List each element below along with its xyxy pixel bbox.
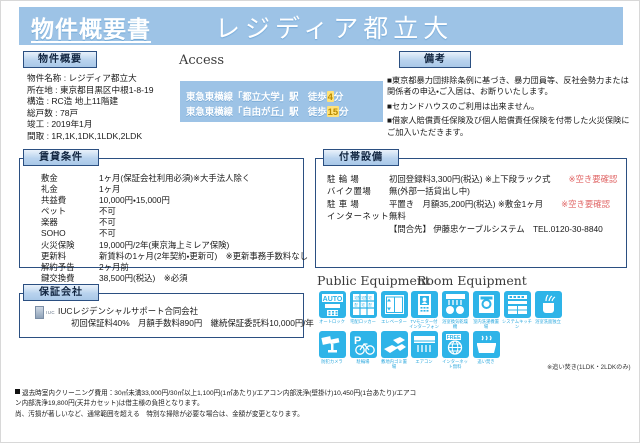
equipment-label: 浴室洗面独立: [533, 319, 563, 324]
bathroom-dryer-icon: [442, 291, 469, 318]
guarantee-company-name: IUCレジデンシャルサポート合同会社: [58, 305, 198, 317]
facility-key: バイク置場: [327, 185, 389, 197]
access-route-2-unit: 分: [339, 106, 348, 117]
equipment-item-air-conditioner: エアコン: [409, 331, 439, 364]
equipment-label: システムキッチン: [502, 319, 532, 329]
footnote-line-2: 尚、汚損が著しいなど、通常範囲を超える 特別な掃除が必要な場合は、金額が変更とな…: [15, 410, 419, 420]
table-row: 鍵交換費 38,500円(税込) ※必須: [41, 273, 308, 284]
equipment-label: 浴室換気乾燥機: [440, 319, 470, 329]
section-tab-rent-conditions: 賃貸条件: [23, 149, 99, 166]
footnote-block: 退去時室内クリーニング費用：30㎡未満33,000円/30㎡以上1,100円(1…: [15, 389, 419, 420]
table-row: SOHO 不可: [41, 228, 308, 239]
access-route-1: 東急東横線「都立大学」駅 徒歩4分: [186, 89, 343, 103]
equipment-item-free-internet: FREE インターネット無料: [440, 331, 470, 369]
vacancy-warning: ※空き要確認: [569, 174, 618, 184]
rent-key: 更新料: [41, 251, 99, 262]
rent-key: 楽器: [41, 217, 99, 228]
property-summary-document: 物件概要書 レジディア都立大 物件概要 物件名称 : レジディア都立大 所在地 …: [0, 0, 640, 443]
equipment-item-security-camera: 防犯カメラ: [317, 331, 347, 364]
rent-key: 礼金: [41, 184, 99, 195]
remarks-item: ■借家人賠償責任保険及び個人賠償責任保険を付帯した火災保険にご加入いただきます。: [387, 115, 633, 138]
document-title: 物件概要書: [31, 10, 151, 44]
washer-space-icon: [473, 291, 500, 318]
facility-key: インターネット: [327, 210, 389, 222]
equipment-label: 室内洗濯機置場: [471, 319, 501, 329]
rent-key: 解約予告: [41, 262, 99, 273]
svg-text:FREE: FREE: [446, 335, 460, 341]
rent-key: 火災保険: [41, 240, 99, 251]
overview-row: 所在地 : 東京都目黒区中根1-8-19: [27, 85, 154, 97]
public-equipment-heading: Public Equipment: [317, 273, 430, 288]
equipment-label: 宅配ロッカー: [348, 319, 378, 324]
equipment-label: オートロック: [317, 319, 347, 324]
facility-value: 無(外部一括貸出し中): [389, 185, 617, 197]
rent-key: 敷金: [41, 173, 99, 184]
access-route-1-text: 東急東横線「都立大学」駅 徒歩: [186, 91, 327, 102]
overview-row: 竣工 : 2019年1月: [27, 119, 154, 131]
elevator-icon: [381, 291, 408, 318]
equipment-item-intercom: TVモニター付インターフォン: [409, 291, 439, 329]
facility-key: 駐 輪 場: [327, 173, 389, 185]
rent-key: 共益費: [41, 195, 99, 206]
property-name-title: レジディア都立大: [215, 9, 453, 45]
table-row: 共益費 10,000円・15,000円: [41, 195, 308, 206]
reheating-note: ※追い焚き(1LDK・2LDKのみ): [547, 362, 631, 371]
facility-value-text: 初回登録料3,300円(税込) ※上下段ラック式: [389, 174, 551, 184]
remarks-list: ■東京都暴力団排除条例に基づき、暴力団員等、反社会勢力または関係者の申込・ご入居…: [387, 75, 633, 141]
table-row: バイク置場 無(外部一括貸出し中): [327, 185, 617, 197]
guarantee-logo-text: IUC: [46, 310, 55, 315]
rent-value: 不可: [99, 228, 308, 239]
facility-value: 初回登録料3,300円(税込) ※上下段ラック式※空き要確認: [389, 173, 617, 185]
equipment-item-delivery-locker: 宅配宅配宅 配宅配 宅配ロッカー: [348, 291, 378, 324]
overview-row: 総戸数 : 78戸: [27, 108, 154, 120]
overview-row: 物件名称 : レジディア都立大: [27, 73, 154, 85]
facilities-table: 駐 輪 場 初回登録料3,300円(税込) ※上下段ラック式※空き要確認 バイク…: [327, 173, 617, 223]
auto-lock-icon: AUTO: [319, 291, 346, 318]
facility-value: 平置き 月額35,200円(税込) ※敷金1ヶ月※空き要確認: [389, 198, 617, 210]
equipment-item-system-kitchen: システムキッチン: [502, 291, 532, 329]
bullet-square-icon: [15, 389, 20, 394]
equipment-label: 駐輪場: [348, 359, 378, 364]
table-row: 礼金 1ヶ月: [41, 184, 308, 195]
facility-value-text: 平置き 月額35,200円(税込) ※敷金1ヶ月: [389, 199, 543, 209]
rent-value: 1ヶ月(保証会社利用必須)※大手法人除く: [99, 173, 308, 184]
system-kitchen-icon: [504, 291, 531, 318]
overview-row: 間取 : 1R,1K,1DK,1LDK,2LDK: [27, 131, 154, 143]
building-logo-icon: [35, 306, 44, 319]
rent-value: 不可: [99, 206, 308, 217]
table-row: 更新料 新賃料の1ヶ月(2年契約・更新可) ※更新事務手数料なし: [41, 251, 308, 262]
facility-key: 駐 車 場: [327, 198, 389, 210]
security-camera-icon: [319, 331, 346, 358]
section-tab-remarks: 備考: [399, 51, 471, 68]
separate-bath-toilet-icon: [535, 291, 562, 318]
access-route-1-unit: 分: [334, 91, 343, 102]
vacancy-warning: ※空き要確認: [561, 199, 610, 209]
delivery-locker-icon: 宅配宅配宅 配宅配: [350, 291, 377, 318]
rent-value: 1ヶ月: [99, 184, 308, 195]
access-box: 東急東横線「都立大学」駅 徒歩4分 東急東横線「自由が丘」駅 徒歩15分: [180, 81, 383, 122]
access-route-2-minutes: 15: [327, 106, 339, 117]
equipment-label: 追い焚き: [471, 359, 501, 364]
section-tab-overview: 物件概要: [23, 51, 97, 68]
rent-conditions-table: 敷金 1ヶ月(保証会社利用必須)※大手法人除く 礼金 1ヶ月 共益費 10,00…: [41, 173, 308, 284]
rent-value: 19,000円/2年(東京海上ミレア保険): [99, 240, 308, 251]
equipment-label: 敷地内ゴミ置場: [379, 359, 409, 369]
equipment-label: エアコン: [409, 359, 439, 364]
svg-text:宅: 宅: [361, 303, 364, 307]
equipment-item-auto-lock: AUTO オートロック: [317, 291, 347, 324]
facilities-contact: 【問合先】 伊藤忠ケーブルシステム TEL.0120-30-8840: [389, 223, 603, 235]
table-row: 駐 輪 場 初回登録料3,300円(税込) ※上下段ラック式※空き要確認: [327, 173, 617, 185]
equipment-item-elevator: エレベーター: [379, 291, 409, 324]
equipment-item-separate-bath-toilet: 浴室洗面独立: [533, 291, 563, 324]
equipment-label: エレベーター: [379, 319, 409, 324]
rent-value: 2ヶ月前: [99, 262, 308, 273]
access-route-1-minutes: 4: [327, 91, 334, 102]
table-row: 楽器 不可: [41, 217, 308, 228]
overview-list: 物件名称 : レジディア都立大 所在地 : 東京都目黒区中根1-8-19 構造 …: [27, 73, 154, 143]
table-row: 敷金 1ヶ月(保証会社利用必須)※大手法人除く: [41, 173, 308, 184]
footnote-line-1: 退去時室内クリーニング費用：30㎡未満33,000円/30㎡以上1,100円(1…: [15, 389, 419, 410]
section-tab-facilities: 付帯設備: [323, 149, 399, 166]
svg-text:宅: 宅: [368, 296, 371, 300]
reheating-bath-icon: [473, 331, 500, 358]
remarks-item: ■東京都暴力団排除条例に基づき、暴力団員等、反社会勢力または関係者の申込・ご入居…: [387, 75, 633, 98]
equipment-label: インターネット無料: [440, 359, 470, 369]
table-row: 火災保険 19,000円/2年(東京海上ミレア保険): [41, 240, 308, 251]
rent-key: 鍵交換費: [41, 273, 99, 284]
intercom-icon: [411, 291, 438, 318]
rent-value: 10,000円・15,000円: [99, 195, 308, 206]
equipment-item-washer-space: 室内洗濯機置場: [471, 291, 501, 329]
equipment-item-bicycle-parking: P 駐輪場: [348, 331, 378, 364]
equipment-item-bathroom-dryer: 浴室換気乾燥機: [440, 291, 470, 329]
svg-text:AUTO: AUTO: [322, 296, 342, 303]
equipment-item-garbage-area: 敷地内ゴミ置場: [379, 331, 409, 369]
table-row: 解約予告 2ヶ月前: [41, 262, 308, 273]
section-tab-guarantee: 保証会社: [23, 284, 99, 301]
air-conditioner-icon: [411, 331, 438, 358]
rent-value: 不可: [99, 217, 308, 228]
bicycle-parking-icon: P: [350, 331, 377, 358]
access-heading: Access: [179, 53, 224, 68]
equipment-item-reheating-bath: 追い焚き: [471, 331, 501, 364]
table-row: インターネット 無料: [327, 210, 617, 222]
remarks-item: ■セカンドハウスのご利用は出来ません。: [387, 101, 633, 112]
equipment-label: 防犯カメラ: [317, 359, 347, 364]
table-row: ペット 不可: [41, 206, 308, 217]
free-internet-icon: FREE: [442, 331, 469, 358]
overview-row: 構造 : RC造 地上11階建: [27, 96, 154, 108]
rent-value: 新賃料の1ヶ月(2年契約・更新可) ※更新事務手数料なし: [99, 251, 308, 262]
rent-key: SOHO: [41, 228, 99, 239]
access-route-2-text: 東急東横線「自由が丘」駅 徒歩: [186, 106, 327, 117]
table-row: 駐 車 場 平置き 月額35,200円(税込) ※敷金1ヶ月※空き要確認: [327, 198, 617, 210]
garbage-area-icon: [381, 331, 408, 358]
facility-value: 無料: [389, 210, 617, 222]
rent-key: ペット: [41, 206, 99, 217]
guarantee-fee-text: 初回保証料40% 月額手数料890円 継続保証委託料10,000円/年: [71, 317, 314, 329]
equipment-label: TVモニター付インターフォン: [409, 319, 439, 329]
room-equipment-heading: Room Equipment: [417, 273, 527, 288]
rent-value: 38,500円(税込) ※必須: [99, 273, 308, 284]
footnote-line-1-text: 退去時室内クリーニング費用：30㎡未満33,000円/30㎡以上1,100円(1…: [15, 390, 416, 407]
access-route-2: 東急東横線「自由が丘」駅 徒歩15分: [186, 104, 348, 118]
